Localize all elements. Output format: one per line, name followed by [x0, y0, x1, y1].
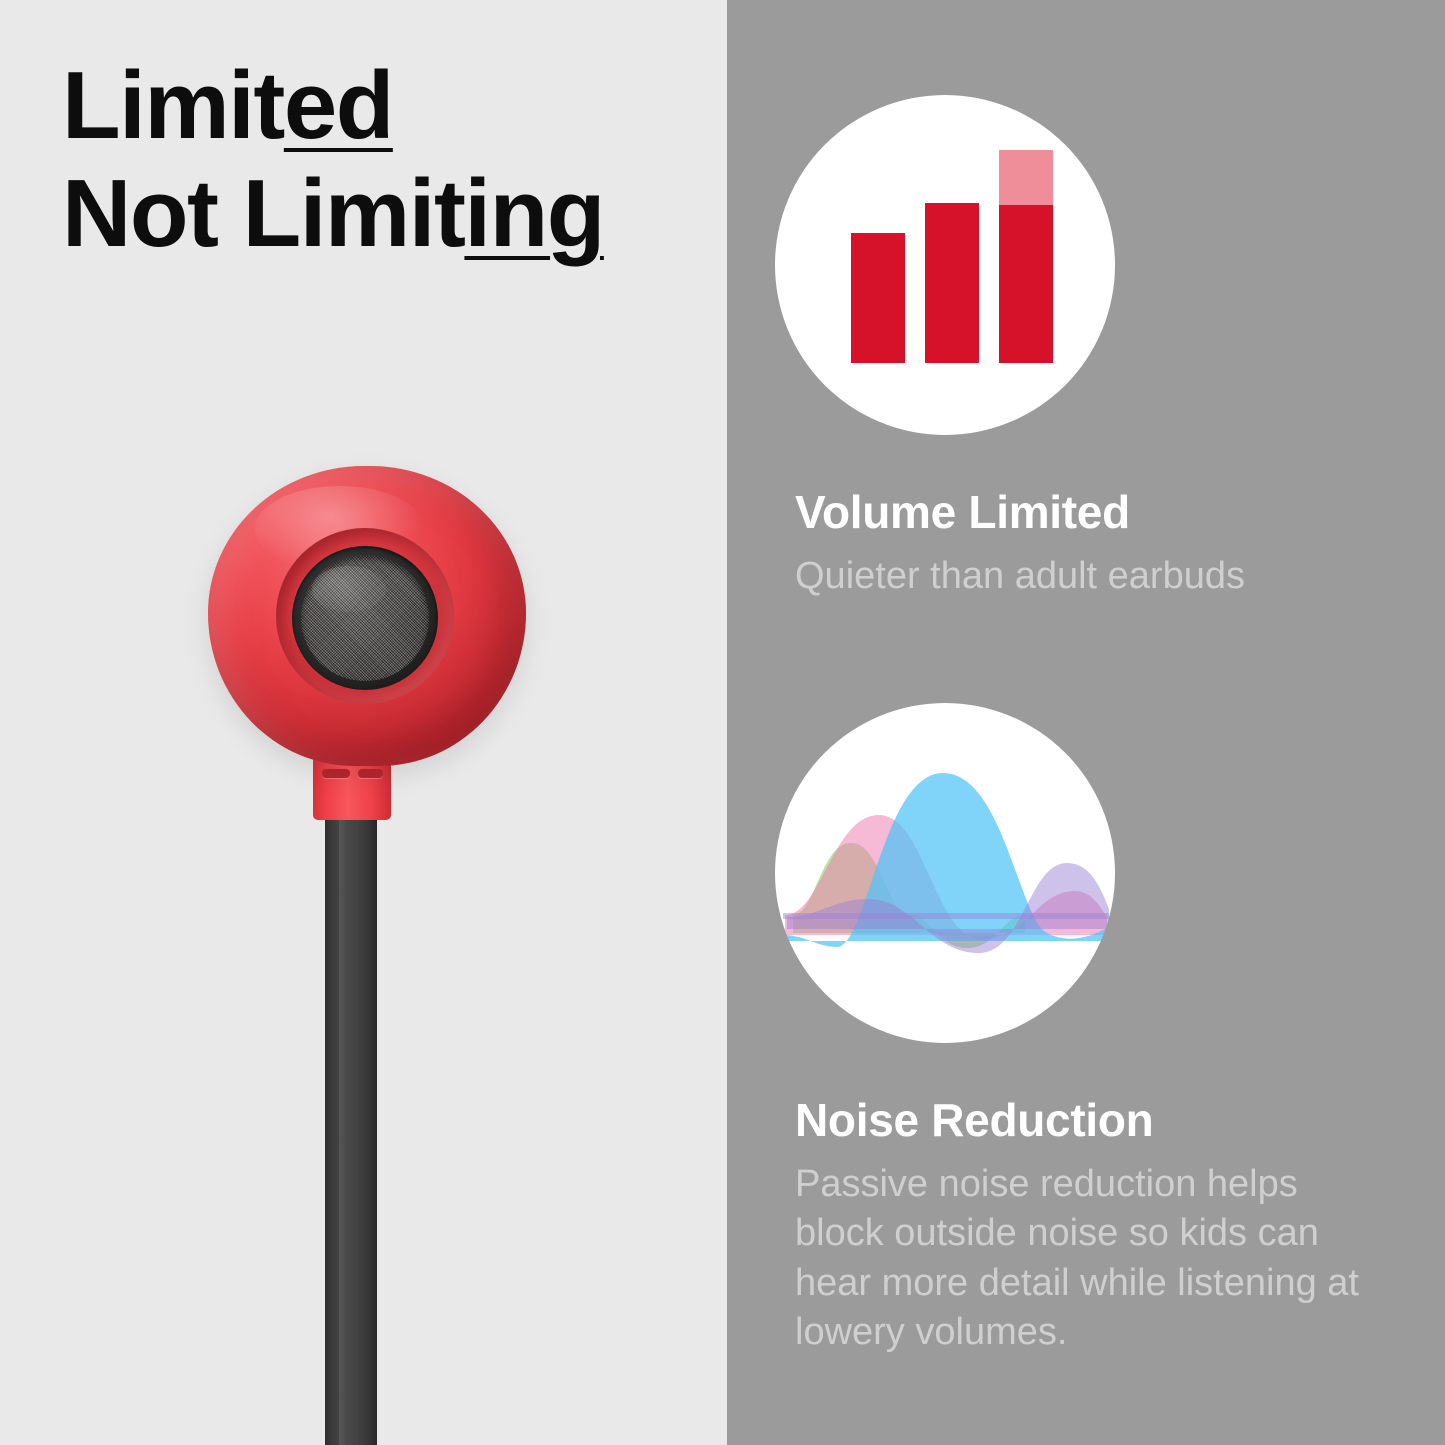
feature-description-noise-reduction: Passive noise reduction helps block outs…	[795, 1160, 1395, 1358]
volume-bars-icon	[775, 95, 1115, 435]
volume-bar-3-cap	[999, 150, 1053, 205]
sound-waveform-icon	[775, 703, 1115, 1043]
volume-bar-2	[925, 203, 979, 363]
earbud-speaker-mesh-highlight	[312, 566, 386, 612]
product-feature-graphic: Limited Not Limiting V	[0, 0, 1445, 1445]
collar-slot-left	[322, 769, 350, 778]
left-panel: Limited Not Limiting	[0, 0, 727, 1445]
feature-title-noise-reduction: Noise Reduction	[795, 1093, 1153, 1147]
wave-baseline	[783, 913, 1109, 919]
right-panel: Volume Limited Quieter than adult earbud…	[727, 0, 1445, 1445]
volume-bar-1	[851, 233, 905, 363]
sound-waveform-graphic	[775, 703, 1115, 1043]
earbud-cable-highlight	[339, 800, 346, 1445]
earbud-cable	[325, 800, 377, 1445]
collar-slot-right	[358, 769, 383, 778]
feature-description-volume-limited: Quieter than adult earbuds	[795, 552, 1405, 601]
volume-bar-3	[999, 205, 1053, 363]
feature-title-volume-limited: Volume Limited	[795, 485, 1130, 539]
earbud-product-photo	[0, 0, 727, 1445]
